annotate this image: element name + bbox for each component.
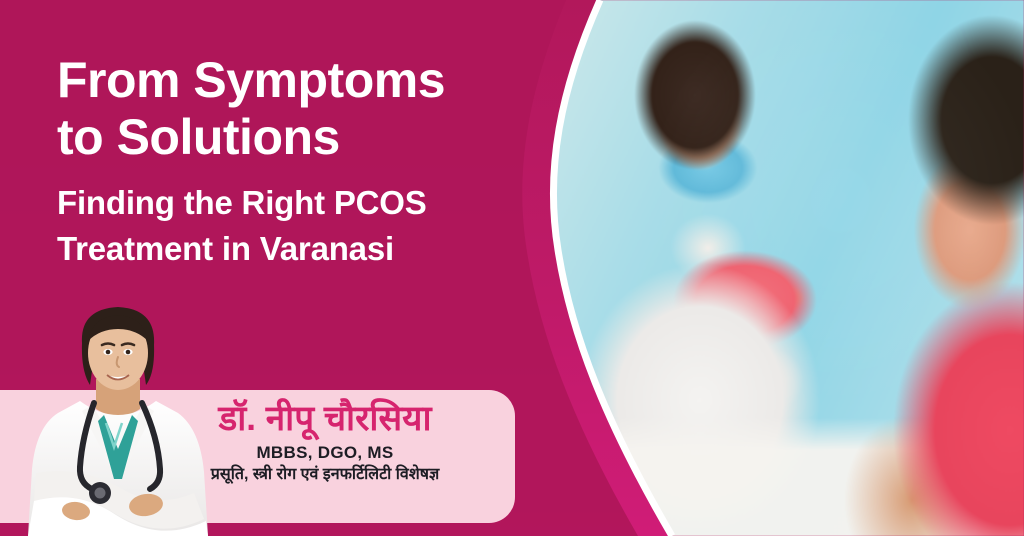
clinic-photo xyxy=(540,0,1024,536)
pcos-treatment-banner: From Symptoms to Solutions Finding the R… xyxy=(0,0,1024,536)
clinic-photo-highlight xyxy=(540,0,1024,536)
headline-line-2: to Solutions xyxy=(57,109,527,166)
headline-line-1: From Symptoms xyxy=(57,52,527,109)
subheading-block: Finding the Right PCOS Treatment in Vara… xyxy=(57,180,527,272)
headline-block: From Symptoms to Solutions Finding the R… xyxy=(57,52,527,272)
subheading-line-1: Finding the Right PCOS xyxy=(57,180,527,226)
subheading-line-2: Treatment in Varanasi xyxy=(57,226,527,272)
doctor-portrait xyxy=(18,297,218,536)
